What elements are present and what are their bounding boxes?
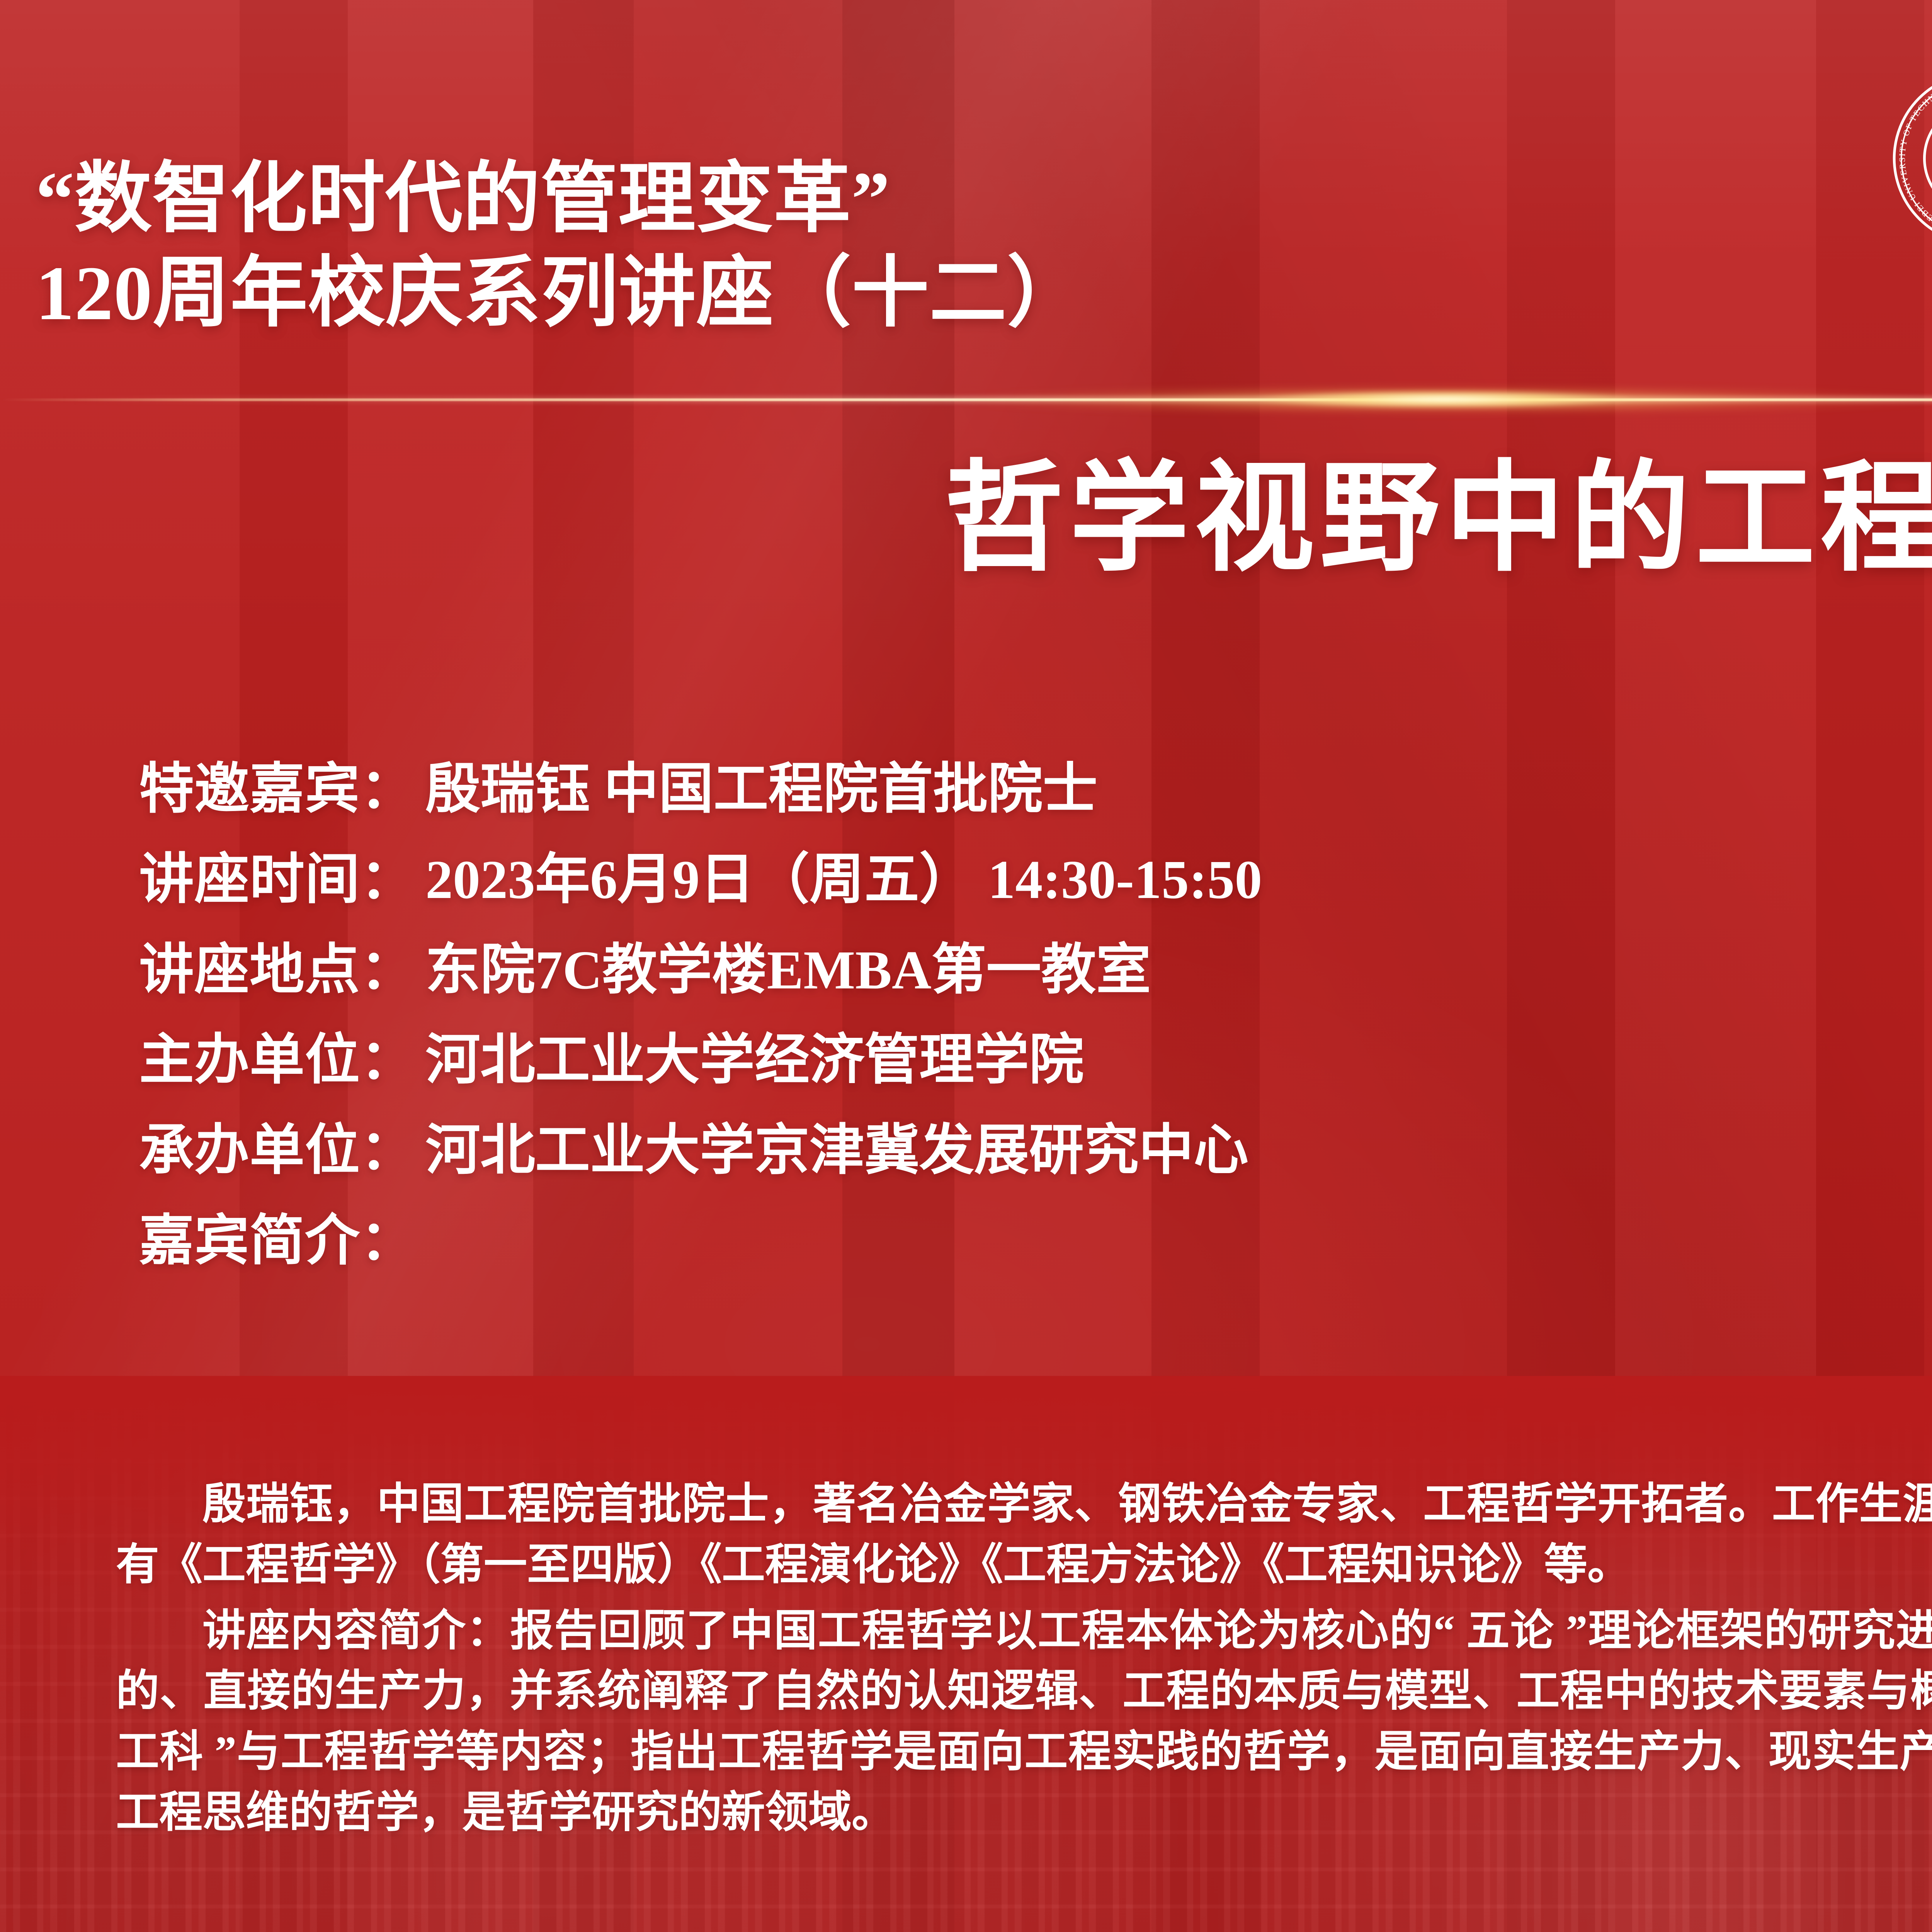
info-row-organizer: 主办单位：河北工业大学经济管理学院 — [139, 1019, 1932, 1102]
info-value-guest: 殷瑞钰 中国工程院首批院士 — [425, 759, 1098, 820]
info-row-guest: 特邀嘉宾：殷瑞钰 中国工程院首批院士 — [139, 748, 1932, 831]
lecture-info-list: 特邀嘉宾：殷瑞钰 中国工程院首批院士 讲座时间：2023年6月9日（周五） 14… — [139, 748, 1932, 1290]
series-title-line2: 120周年校庆系列讲座（十二） — [36, 247, 1085, 341]
info-row-time: 讲座时间：2023年6月9日（周五） 14:30-15:50 — [139, 838, 1932, 922]
series-title-line1: “数智化时代的管理变革” — [36, 156, 890, 242]
info-value-organizer: 河北工业大学经济管理学院 — [425, 1029, 1084, 1090]
info-value-time: 2023年6月9日（周五） 14:30-15:50 — [425, 849, 1262, 910]
info-label-location: 讲座地点： — [139, 939, 415, 1000]
info-value-coorganizer: 河北工业大学京津冀发展研究中心 — [425, 1120, 1248, 1181]
info-row-bio-heading: 嘉宾简介： — [139, 1199, 1932, 1283]
info-row-location: 讲座地点：东院7C教学楼EMBA第一教室 — [139, 929, 1932, 1012]
info-label-bio: 嘉宾简介： — [139, 1210, 415, 1271]
series-title: “数智化时代的管理变革” 120周年校庆系列讲座（十二） — [36, 58, 1085, 435]
svg-text:HEBEI UNIVERSITY OF TECHNOLOGY: HEBEI UNIVERSITY OF TECHNOLOGY — [1897, 77, 1932, 228]
poster-header: “数智化时代的管理变革” 120周年校庆系列讲座（十二） — [0, 0, 1932, 386]
info-label-coorganizer: 承办单位： — [139, 1120, 415, 1181]
lecture-title: 哲学视野中的工程 — [0, 460, 1932, 580]
university-seal-icon: 1903 HEBEI UNIVERSITY OF TECHNOLOGY — [1891, 70, 1932, 247]
school-brand: 1903 HEBEI UNIVERSITY OF TECHNOLOGY 经济管理… — [1891, 70, 1932, 247]
info-label-guest: 特邀嘉宾： — [139, 759, 415, 820]
bio-paragraph: 殷瑞钰，中国工程院首批院士，著名冶金学家、钢铁冶金专家、工程哲学开拓者。工作生涯… — [116, 1474, 1932, 1595]
poster-canvas: “数智化时代的管理变革” 120周年校庆系列讲座（十二） — [0, 0, 1932, 1932]
info-label-organizer: 主办单位： — [139, 1029, 415, 1090]
info-value-location: 东院7C教学楼EMBA第一教室 — [425, 939, 1151, 1000]
lecture-description: 殷瑞钰，中国工程院首批院士，著名冶金学家、钢铁冶金专家、工程哲学开拓者。工作生涯… — [116, 1474, 1932, 1849]
info-label-time: 讲座时间： — [139, 849, 415, 910]
abstract-paragraph: 讲座内容简介：报告回顾了中国工程哲学以工程本体论为核心的“ 五论 ”理论框架的研… — [116, 1601, 1932, 1843]
info-row-coorganizer: 承办单位：河北工业大学京津冀发展研究中心 — [139, 1109, 1932, 1192]
